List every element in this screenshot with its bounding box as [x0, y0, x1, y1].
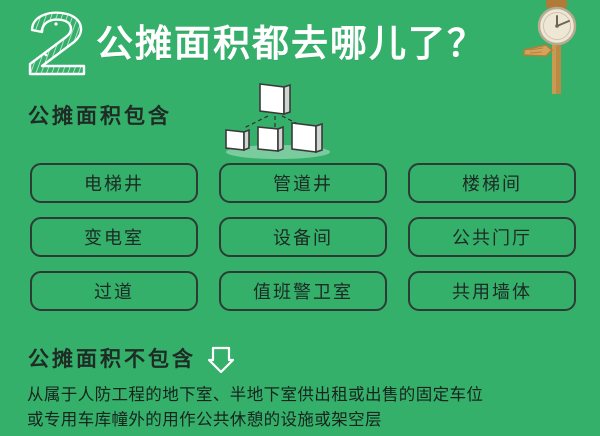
- includes-row-2: 变电室 设备间 公共门厅: [30, 217, 576, 257]
- item-pill[interactable]: 电梯井: [30, 163, 198, 203]
- section-heading-excludes: 公摊面积不包含: [28, 346, 234, 374]
- excludes-paragraph: 从属于人防工程的地下室、半地下室供出租或出售的固定车位 或专用车库幢外的用作公共…: [27, 383, 579, 433]
- includes-items-grid: 电梯井 管道井 楼梯间 变电室 设备间 公共门厅 过道 值班警卫室 共用墙体: [30, 163, 576, 325]
- arrow-down-icon: [208, 346, 234, 374]
- item-pill[interactable]: 值班警卫室: [219, 271, 387, 311]
- item-pill[interactable]: 楼梯间: [408, 163, 576, 203]
- infographic-poster: 公摊面积都去哪儿了？ 公摊面积包含: [0, 0, 600, 436]
- paragraph-line: 从属于人防工程的地下室、半地下室供出租或出售的固定车位: [27, 383, 579, 408]
- page-title: 公摊面积都去哪儿了？: [96, 18, 486, 70]
- building-blocks-split-icon: [218, 82, 336, 164]
- item-pill[interactable]: 公共门厅: [408, 217, 576, 257]
- clock-signpost-icon: [516, 0, 596, 94]
- item-pill[interactable]: 设备间: [219, 217, 387, 257]
- includes-row-1: 电梯井 管道井 楼梯间: [30, 163, 576, 203]
- item-pill[interactable]: 管道井: [219, 163, 387, 203]
- item-pill[interactable]: 变电室: [30, 217, 198, 257]
- poster-header: 公摊面积都去哪儿了？: [0, 0, 600, 92]
- hand-drawn-number-two-icon: [22, 8, 96, 78]
- includes-row-3: 过道 值班警卫室 共用墙体: [30, 271, 576, 311]
- excludes-heading-text: 公摊面积不包含: [28, 346, 196, 374]
- section-heading-includes: 公摊面积包含: [28, 103, 172, 131]
- item-pill[interactable]: 共用墙体: [408, 271, 576, 311]
- includes-heading-text: 公摊面积包含: [28, 103, 172, 131]
- item-pill[interactable]: 过道: [30, 271, 198, 311]
- paragraph-line: 或专用车库幢外的用作公共休憩的设施或架空层: [27, 408, 579, 433]
